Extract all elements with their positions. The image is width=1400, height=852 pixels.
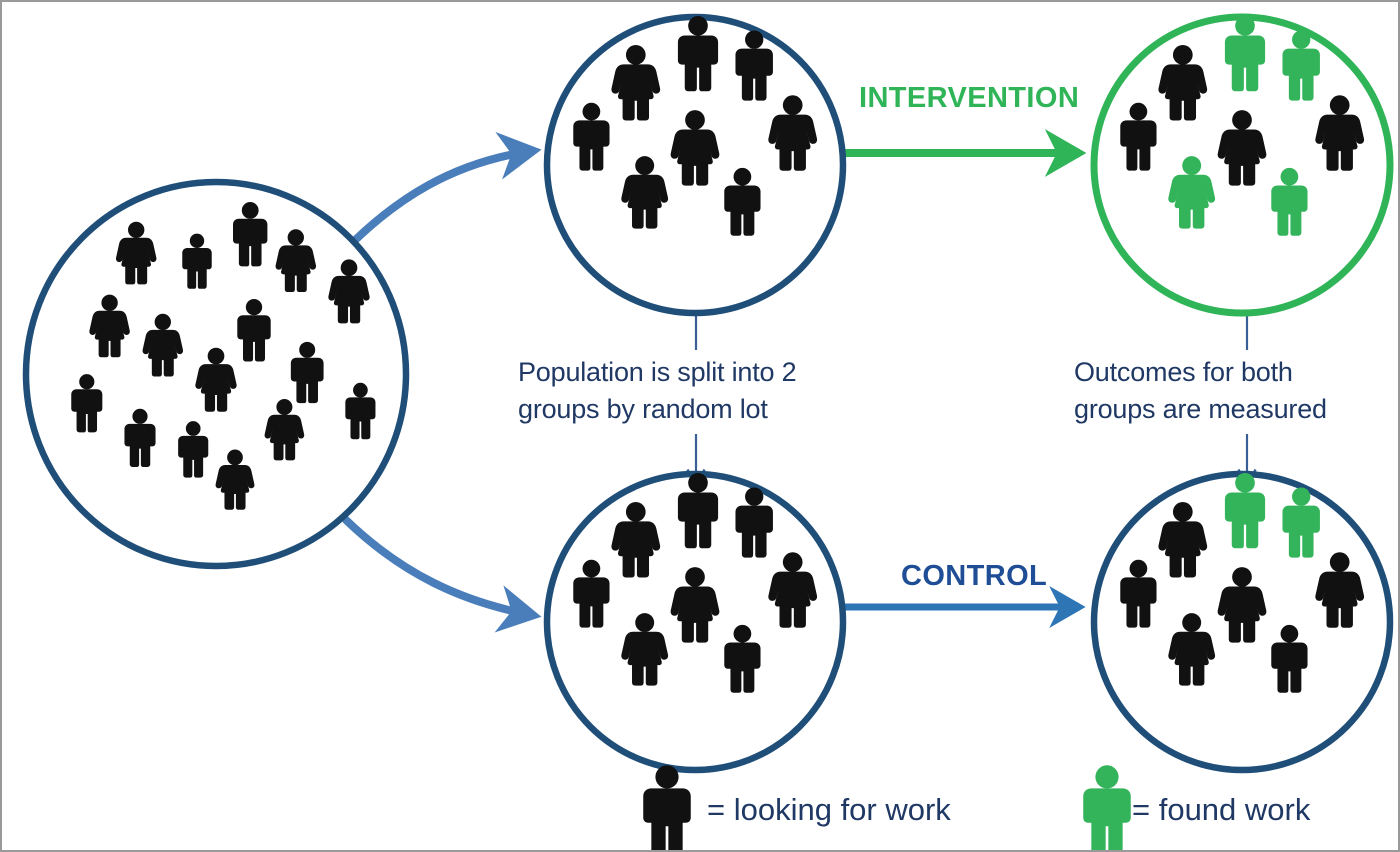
outcomes-caption: Outcomes for both groups are measured xyxy=(1074,354,1327,429)
population-circle xyxy=(26,182,406,566)
person-green-icon xyxy=(1083,765,1131,852)
intervention-label: INTERVENTION xyxy=(859,82,1079,115)
connector-split-to-intervention xyxy=(344,151,532,251)
legend-found-work-text: = found work xyxy=(1132,792,1310,828)
legend-looking-for-work-text: = looking for work xyxy=(707,792,951,828)
control-outcome-circle xyxy=(1094,473,1390,770)
diagram-canvas: Population is split into 2 groups by ran… xyxy=(0,0,1400,852)
intervention-group-circle xyxy=(547,16,843,313)
person-black-icon xyxy=(643,765,691,852)
connector-split-to-control xyxy=(346,520,532,615)
control-group-circle xyxy=(547,473,843,770)
intervention-outcome-circle xyxy=(1094,16,1390,313)
split-caption: Population is split into 2 groups by ran… xyxy=(518,354,796,429)
control-label: CONTROL xyxy=(901,560,1047,593)
